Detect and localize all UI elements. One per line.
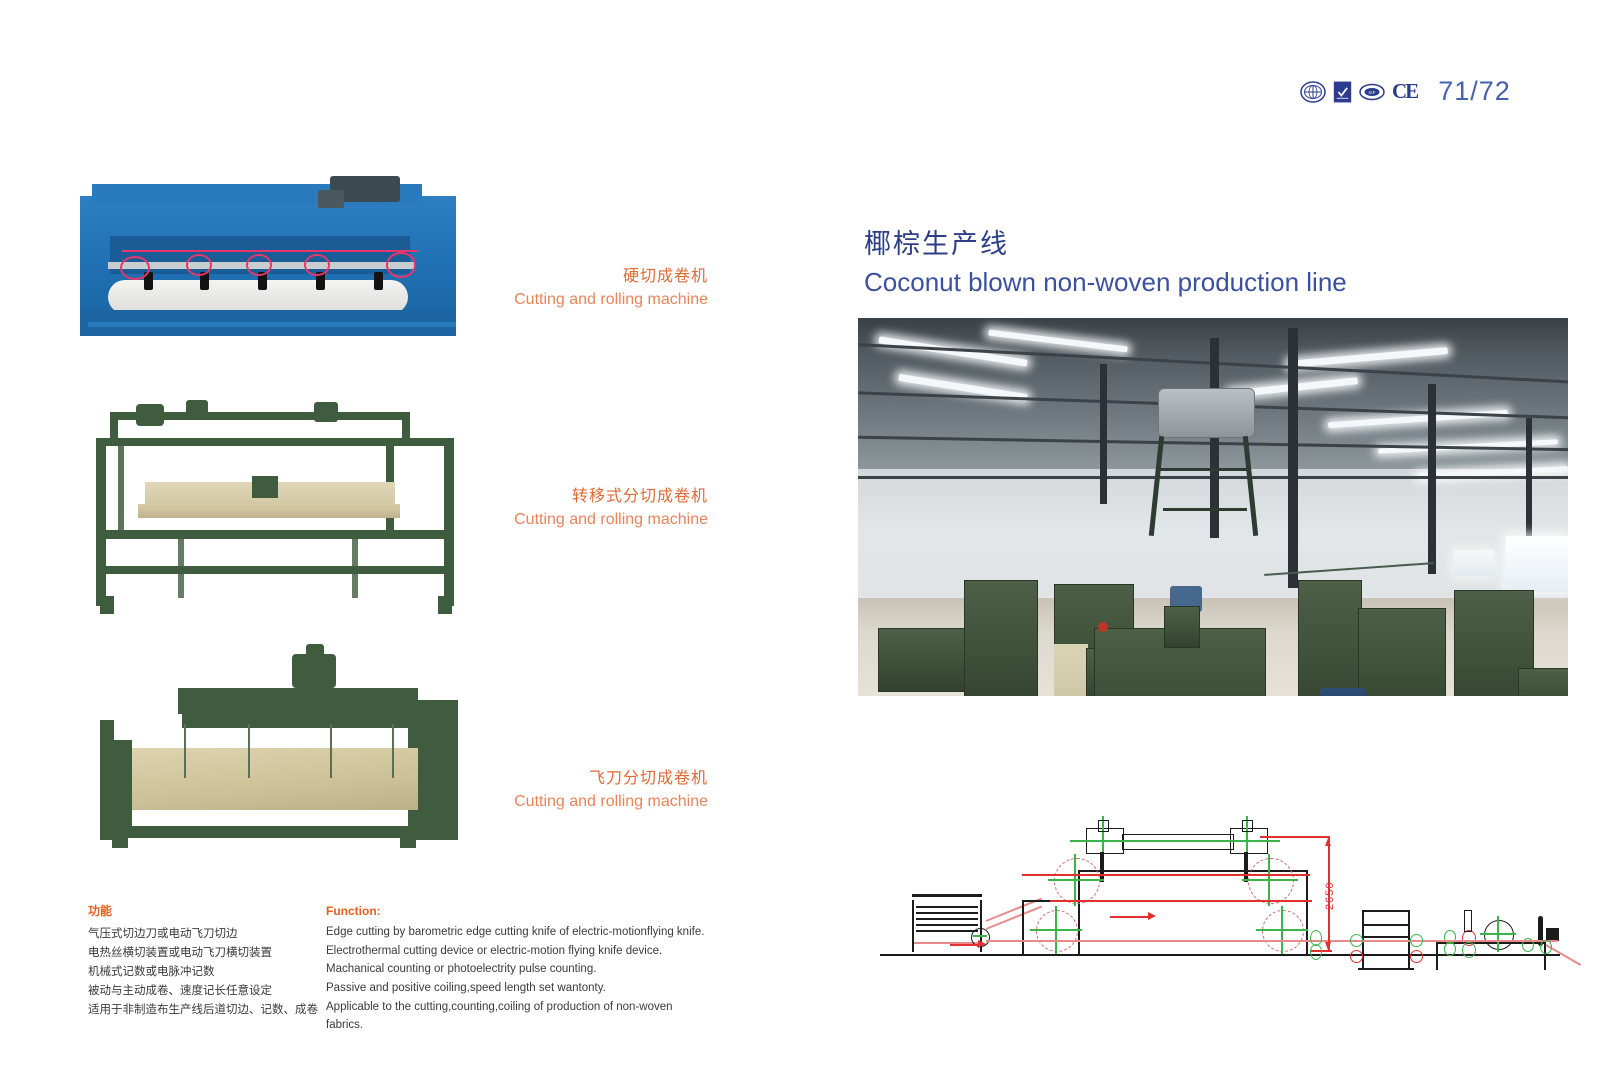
dimension-label-2650: 2650: [1324, 882, 1336, 910]
flow-arrow-line: [1110, 916, 1150, 918]
roller-centerline: [1242, 879, 1298, 881]
lapper-inner-wall-right: [1306, 870, 1308, 956]
roller-centerline: [1268, 854, 1270, 906]
flow-arrow-line: [950, 944, 980, 946]
guide-roller: [1350, 934, 1363, 947]
caption-machine-1-cn: 硬切成卷机: [408, 262, 708, 286]
roller-centerline: [1048, 879, 1104, 881]
machine2-upper-post: [402, 412, 410, 442]
machine2-drive-head: [186, 400, 208, 418]
machine2-cutter-head: [252, 476, 278, 498]
caption-machine-3: 飞刀分切成卷机 Cutting and rolling machine: [408, 764, 708, 811]
function-line-en: Electrothermal cutting device or electri…: [326, 942, 706, 961]
caption-machine-3-cn: 飞刀分切成卷机: [408, 764, 708, 788]
machine3-tension-wire: [248, 724, 250, 778]
machine2-foot: [438, 596, 452, 614]
function-line-cn: 机械式记数或电脉冲记数: [88, 962, 318, 981]
feeder-slat: [916, 930, 978, 932]
function-block-cn: 功能 气压式切边刀或电动飞刀切边 电热丝横切装置或电动飞刀横切装置 机械式记数或…: [88, 902, 318, 1019]
machine3-base-rail: [106, 826, 416, 838]
flow-arrow-head: [1148, 912, 1156, 920]
oven-top: [1362, 910, 1410, 912]
function-line-cn: 被动与主动成卷、速度记长任意设定: [88, 981, 318, 1000]
winder-roller: [1444, 942, 1456, 956]
oven-base: [1358, 968, 1414, 970]
feeder-slat: [916, 906, 978, 908]
ce-mark-icon: CE: [1392, 79, 1417, 104]
caption-machine-1-en: Cutting and rolling machine: [408, 291, 708, 309]
lapper-left-wall: [1022, 900, 1024, 956]
function-line-cn: 适用于非制造布生产线后道切边、记数、成卷: [88, 1000, 318, 1019]
winder-roller: [1540, 940, 1552, 954]
feeder-left: [912, 900, 914, 952]
guide-roller: [1410, 934, 1423, 947]
machine2-upper-post: [110, 412, 118, 442]
steel-column: [1428, 384, 1436, 574]
function-line-en: Edge cutting by barometric edge cutting …: [326, 923, 706, 942]
machine2-top-rail: [96, 438, 454, 446]
lapper-roller: [1054, 858, 1100, 904]
bolt-head: [1098, 820, 1109, 832]
machine3-foot: [112, 836, 128, 848]
machine3-tension-wire: [392, 724, 394, 778]
feeder-slat: [916, 924, 978, 926]
machine1-air-line: [122, 250, 418, 252]
svg-text:IAF: IAF: [1368, 90, 1375, 95]
header-badges: IAF CE 71/72: [1300, 76, 1511, 107]
page-title-cn: 椰棕生产线: [864, 228, 1347, 262]
nip-roller: [1310, 944, 1322, 960]
machine1-shaft: [88, 322, 456, 327]
machine1-air-hose: [246, 254, 272, 276]
caption-machine-3-en: Cutting and rolling machine: [408, 793, 708, 811]
production-line-elevation-drawing: 2650: [870, 782, 1570, 962]
control-panel: [1054, 644, 1088, 696]
support-rod: [1100, 852, 1104, 882]
line-machine-opener: [1298, 580, 1362, 696]
iso-certification-logo: [1300, 81, 1326, 103]
cross-beam: [1122, 834, 1234, 850]
web-path-winder: [1428, 940, 1558, 942]
oven-divider: [1362, 936, 1410, 938]
machine3-motor-cap: [306, 644, 324, 658]
winding-drum: [1484, 920, 1514, 950]
machine2-brace: [118, 446, 124, 538]
dimension-arrow-bottom: [1325, 942, 1331, 950]
guide-roller: [1410, 950, 1423, 963]
feed-chute: [1164, 606, 1200, 648]
function-block-en: Function: Edge cutting by barometric edg…: [326, 904, 706, 1035]
steel-column: [1100, 364, 1107, 504]
red-indicator-light: [1098, 622, 1108, 632]
machine2-left-post: [96, 438, 106, 606]
tower-brace: [1163, 508, 1247, 511]
roller-centerline: [1055, 906, 1057, 954]
wall-window: [1506, 536, 1568, 592]
roller-centerline: [1281, 906, 1283, 954]
line-machine-outfeed: [1518, 668, 1568, 696]
flow-arrow-head: [978, 940, 986, 948]
page-title-en: Coconut blown non-woven production line: [864, 266, 1347, 300]
line-machine-blender: [1358, 608, 1446, 696]
quality-check-logo: [1333, 81, 1352, 103]
machine2-mid-rail: [96, 530, 454, 539]
machine3-motor: [292, 654, 336, 688]
machine1-gearbox: [318, 190, 344, 208]
machine2-foot: [100, 596, 114, 614]
machine2-drive-head: [314, 402, 338, 422]
function-line-en: Machanical counting or photoelectrity pu…: [326, 960, 706, 979]
lapper-roller: [1262, 910, 1304, 952]
iaf-accreditation-logo: IAF: [1359, 81, 1385, 103]
machine1-air-hose: [186, 254, 212, 276]
function-line-en: Passive and positive coiling,speed lengt…: [326, 979, 706, 998]
machine3-tension-wire: [184, 724, 186, 778]
lapper-roller: [1248, 858, 1294, 904]
feeder-slat: [916, 918, 978, 920]
function-line-cn: 电热丝横切装置或电动飞刀横切装置: [88, 943, 318, 962]
tower-brace: [1158, 468, 1250, 471]
steel-column: [1288, 328, 1298, 588]
oven-divider: [1362, 924, 1410, 926]
machine3-tension-wire: [330, 724, 332, 778]
machine3-foot: [400, 836, 416, 848]
feeder-top: [912, 894, 982, 897]
lapper-roller: [1036, 910, 1078, 952]
bolt-head: [1242, 820, 1253, 832]
line-machine-cabinet: [964, 580, 1038, 696]
machine2-fabric-edge: [138, 504, 400, 518]
caption-machine-2-en: Cutting and rolling machine: [408, 511, 708, 529]
machine3-knife-bar: [182, 714, 414, 728]
function-line-cn: 气压式切边刀或电动飞刀切边: [88, 924, 318, 943]
cyclone-tank: [1158, 388, 1255, 438]
blue-drum: [1320, 688, 1366, 696]
centerline: [973, 935, 987, 937]
winder-left: [1436, 942, 1438, 970]
machine2-motor: [136, 404, 164, 426]
knife-holder: [1464, 910, 1472, 932]
dimension-arrow-top: [1325, 838, 1331, 846]
caption-machine-1: 硬切成卷机 Cutting and rolling machine: [408, 262, 708, 309]
machine1-nozzle: [374, 272, 383, 290]
factory-floor-photo: [858, 318, 1568, 696]
web-path-mid: [1050, 900, 1312, 902]
roller-centerline: [1074, 854, 1076, 906]
page-title: 椰棕生产线 Coconut blown non-woven production…: [864, 228, 1347, 300]
machine3-fabric-web: [128, 748, 418, 810]
caption-machine-2: 转移式分切成卷机 Cutting and rolling machine: [408, 482, 708, 529]
function-line-en: Applicable to the cutting,counting,coili…: [326, 998, 706, 1035]
wall-window: [1454, 550, 1494, 576]
feeder-slat: [916, 912, 978, 914]
drawing-ground-line: [880, 954, 1560, 956]
function-heading-cn: 功能: [88, 902, 318, 919]
machine1-air-hose: [120, 256, 150, 280]
machine3-top-beam: [178, 688, 418, 714]
winder-roller: [1462, 942, 1476, 958]
machine3-left-housing: [108, 740, 132, 836]
machine2-brace: [178, 538, 184, 598]
dimension-extension-top: [1260, 836, 1330, 838]
web-path-upper: [1022, 874, 1310, 876]
drum-centerline: [1497, 916, 1499, 952]
machine2-lower-rail: [96, 566, 454, 574]
page-number: 71/72: [1438, 76, 1511, 107]
machine2-brace: [352, 538, 358, 598]
web-path-main: [986, 940, 1346, 942]
guide-roller: [1350, 950, 1363, 963]
caption-machine-2-cn: 转移式分切成卷机: [408, 482, 708, 506]
machine1-air-hose: [304, 254, 330, 276]
function-heading-en: Function:: [326, 904, 706, 918]
